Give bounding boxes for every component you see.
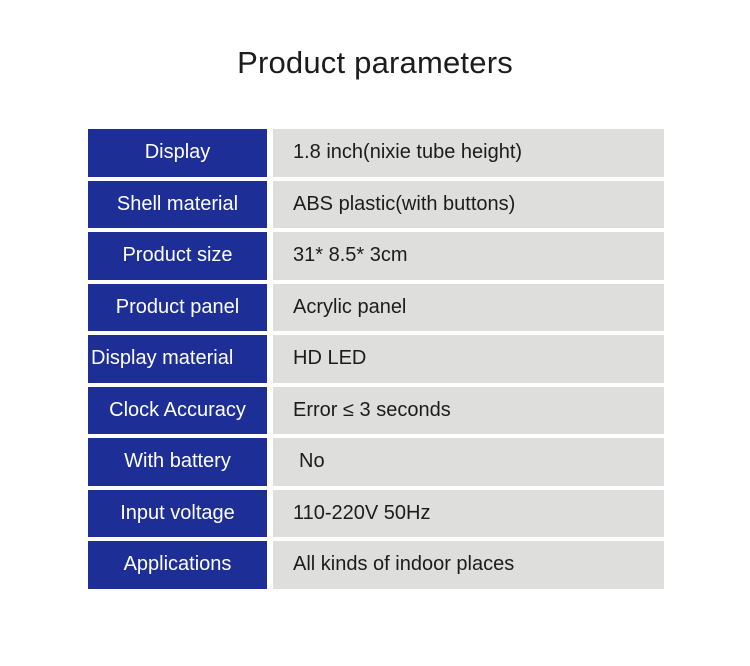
spec-label-shell-material: Shell material bbox=[88, 181, 267, 229]
table-row: Input voltage 110-220V 50Hz bbox=[88, 490, 664, 538]
spec-value-shell-material: ABS plastic(with buttons) bbox=[273, 181, 664, 229]
spec-label-product-size: Product size bbox=[88, 232, 267, 280]
spec-value-product-size: 31* 8.5* 3cm bbox=[273, 232, 664, 280]
table-row: Shell material ABS plastic(with buttons) bbox=[88, 181, 664, 229]
spec-table: Display 1.8 inch(nixie tube height) Shel… bbox=[88, 129, 664, 589]
table-row: With battery No bbox=[88, 438, 664, 486]
spec-label-applications: Applications bbox=[88, 541, 267, 589]
table-row: Display 1.8 inch(nixie tube height) bbox=[88, 129, 664, 177]
table-row: Product size 31* 8.5* 3cm bbox=[88, 232, 664, 280]
spec-label-with-battery: With battery bbox=[88, 438, 267, 486]
spec-value-with-battery: No bbox=[273, 438, 664, 486]
spec-label-input-voltage: Input voltage bbox=[88, 490, 267, 538]
spec-value-display: 1.8 inch(nixie tube height) bbox=[273, 129, 664, 177]
spec-label-product-panel: Product panel bbox=[88, 284, 267, 332]
spec-value-display-material: HD LED bbox=[273, 335, 664, 383]
product-parameters-page: Product parameters Display 1.8 inch(nixi… bbox=[0, 0, 750, 666]
table-row: Display material HD LED bbox=[88, 335, 664, 383]
spec-value-product-panel: Acrylic panel bbox=[273, 284, 664, 332]
spec-label-display: Display bbox=[88, 129, 267, 177]
spec-label-display-material: Display material bbox=[88, 335, 267, 383]
spec-label-clock-accuracy: Clock Accuracy bbox=[88, 387, 267, 435]
table-row: Clock Accuracy Error ≤ 3 seconds bbox=[88, 387, 664, 435]
spec-value-input-voltage: 110-220V 50Hz bbox=[273, 490, 664, 538]
table-row: Product panel Acrylic panel bbox=[88, 284, 664, 332]
page-title: Product parameters bbox=[0, 44, 750, 82]
table-row: Applications All kinds of indoor places bbox=[88, 541, 664, 589]
spec-value-applications: All kinds of indoor places bbox=[273, 541, 664, 589]
spec-value-clock-accuracy: Error ≤ 3 seconds bbox=[273, 387, 664, 435]
